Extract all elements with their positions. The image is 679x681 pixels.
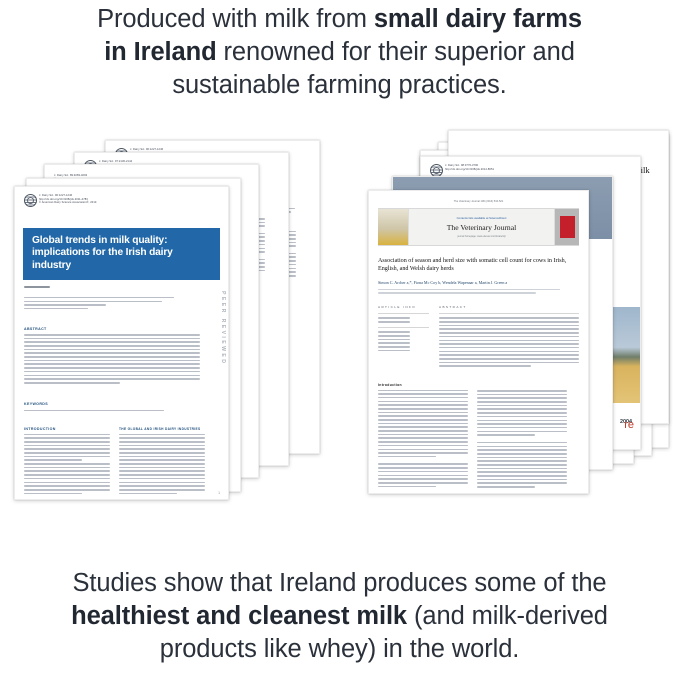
headline-line2-bold: in Ireland: [104, 38, 216, 66]
citation-doi: http://dx.doi.org/10.3168/jds.2014-8651: [445, 168, 631, 172]
paper-author: [24, 286, 219, 288]
veterinary-journal-paper[interactable]: The Veterinary Journal 196 (2013) 516-52…: [368, 190, 589, 494]
footline-line-2: healthiest and cleanest milk (and milk-d…: [0, 600, 679, 633]
abstract-heading: ABSTRACT: [24, 327, 219, 331]
peer-reviewed-sidebar-label: PEER REVIEWED: [212, 291, 226, 421]
red-word: re: [624, 419, 634, 431]
citation-copyright: © American Dairy Science Association®, 2…: [39, 201, 219, 205]
column-global-industries: THE GLOBAL AND IRISH DAIRY INDUSTRIES: [119, 427, 205, 496]
industries-heading: THE GLOBAL AND IRISH DAIRY INDUSTRIES: [119, 427, 205, 431]
page-footline: Studies show that Ireland produces some …: [0, 567, 679, 666]
abstract-heading: ABSTRACT: [439, 305, 579, 309]
introduction-heading: Introduction: [378, 383, 468, 387]
journal-name: The Veterinary Journal: [447, 223, 516, 232]
page-number: 1: [218, 491, 220, 495]
headline-line1-plain: Produced with milk from: [97, 5, 374, 33]
journal-homepage: journal homepage: www.elsevier.com/locat…: [457, 236, 505, 238]
elsevier-logo-icon: [378, 209, 409, 245]
keywords-heading: KEYWORDS: [24, 402, 48, 406]
headline-line1-bold: small dairy farms: [374, 5, 582, 33]
footline-line2-plain: (and milk-derived: [407, 602, 608, 630]
paper-keywords: KEYWORDS: [24, 392, 219, 412]
paper-body-columns: INTRODUCTION THE GLOBAL AND IRISH DAIRY …: [24, 427, 219, 496]
column-introduction: Introduction: [378, 383, 468, 490]
article-authors: Simon C. Archer a,*, Fiona Mc Coy b, Wen…: [378, 280, 579, 285]
article-affiliations: [378, 289, 579, 294]
paper-title: Global trends in milk quality: implicati…: [23, 228, 220, 280]
journal-running-header: The Veterinary Journal 196 (2013) 516-52…: [369, 200, 588, 203]
sciencedirect-line: Contents lists available at ScienceDirec…: [457, 216, 507, 220]
headline-line-3: sustainable farming practices.: [0, 69, 679, 102]
left-front-paper[interactable]: J. Dairy Sci. 96:1227-1246 http://dx.doi…: [14, 186, 229, 500]
journal-seal-icon: [24, 194, 37, 207]
page-headline: Produced with milk from small dairy farm…: [0, 3, 679, 102]
column-introduction: INTRODUCTION: [24, 427, 110, 496]
abstract-column: ABSTRACT: [439, 305, 579, 369]
article-info-column: ARTICLE INFO: [378, 305, 429, 369]
citation-header: J. Dairy Sci. 96:1227-1246 http://dx.doi…: [15, 187, 228, 224]
infographic-panel: Produced with milk from small dairy farm…: [0, 0, 679, 681]
document-stacks: J. Dairy Sci. 96:1227-1246 http://dx.doi…: [0, 128, 679, 558]
paper-abstract: ABSTRACT: [24, 327, 219, 383]
headline-line2-plain: renowned for their superior and: [217, 38, 575, 66]
journal-masthead-center: Contents lists available at ScienceDirec…: [409, 209, 554, 245]
article-info-abstract: ARTICLE INFO ABSTRACT: [378, 305, 579, 369]
headline-line-2: in Ireland renowned for their superior a…: [0, 36, 679, 69]
column-right: [477, 383, 567, 490]
article-info-heading: ARTICLE INFO: [378, 305, 429, 309]
journal-cover-thumbnail: [554, 209, 579, 245]
article-title: Association of season and herd size with…: [378, 257, 579, 274]
article-body-columns: Introduction: [378, 383, 579, 490]
footline-line-3: products like whey) in the world.: [0, 633, 679, 666]
footline-line-1: Studies show that Ireland produces some …: [0, 567, 679, 600]
paper-affiliation: [24, 297, 219, 310]
footline-line2-bold: healthiest and cleanest milk: [71, 602, 407, 630]
journal-masthead: Contents lists available at ScienceDirec…: [378, 208, 579, 246]
headline-line-1: Produced with milk from small dairy farm…: [0, 3, 679, 36]
introduction-heading: INTRODUCTION: [24, 427, 110, 431]
